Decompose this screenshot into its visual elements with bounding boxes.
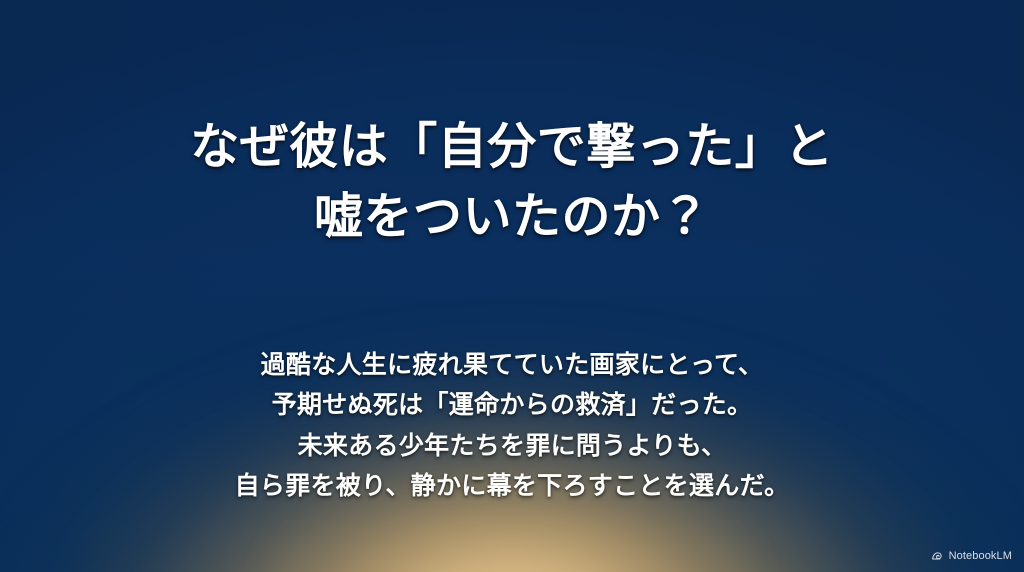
slide-canvas: なぜ彼は「自分で撃った」と 嘘をついたのか？ 過酷な人生に疲れ果てていた画家にと… (0, 0, 1024, 572)
notebooklm-watermark: NotebookLM (931, 549, 1012, 562)
slide-body-line-2: 予期せぬ死は「運命からの救済」だった。 (0, 386, 1024, 427)
notebooklm-watermark-label: NotebookLM (949, 550, 1012, 562)
slide-body-line-1: 過酷な人生に疲れ果てていた画家にとって、 (0, 346, 1024, 387)
slide-title-line-2: 嘘をついたのか？ (0, 182, 1024, 252)
slide-title-line-1: なぜ彼は「自分で撃った」と (0, 112, 1024, 182)
slide-content: なぜ彼は「自分で撃った」と 嘘をついたのか？ 過酷な人生に疲れ果てていた画家にと… (0, 0, 1024, 572)
slide-body-text: 過酷な人生に疲れ果てていた画家にとって、 予期せぬ死は「運命からの救済」だった。… (0, 346, 1024, 508)
slide-body-line-4: 自ら罪を被り、静かに幕を下ろすことを選んだ。 (0, 467, 1024, 508)
slide-title: なぜ彼は「自分で撃った」と 嘘をついたのか？ (0, 112, 1024, 251)
slide-body-line-3: 未来ある少年たちを罪に問うよりも、 (0, 427, 1024, 468)
notebooklm-logo-icon (931, 549, 944, 562)
